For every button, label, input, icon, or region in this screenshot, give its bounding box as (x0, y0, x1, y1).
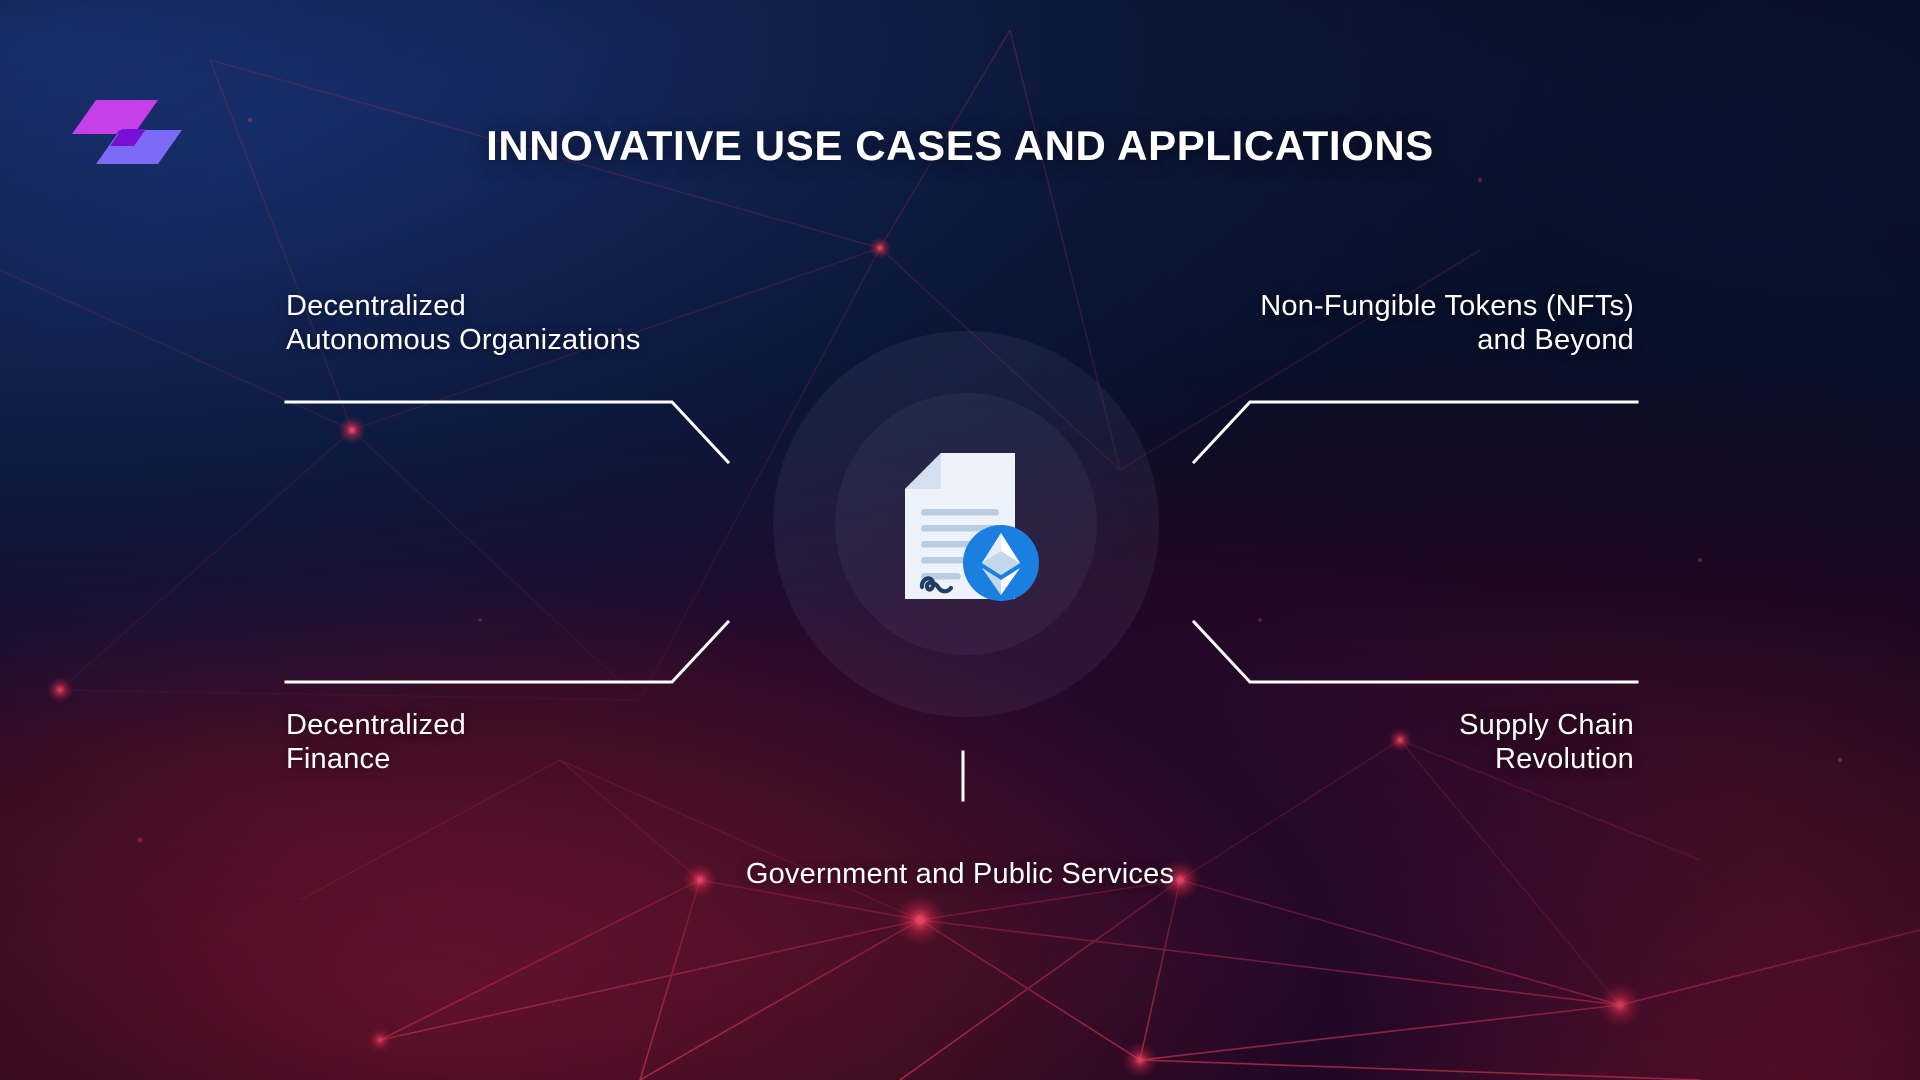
label-supply-chain-revolution: Supply Chain Revolution (1114, 709, 1634, 777)
label-decentralized-autonomous-organizations: Decentralized Autonomous Organizations (286, 290, 806, 358)
connector-bottom-right (1194, 622, 1637, 682)
label-nft-and-beyond: Non-Fungible Tokens (NFTs) and Beyond (1074, 290, 1634, 358)
connector-top-right (1194, 402, 1637, 462)
center-hub (773, 331, 1159, 717)
slide-canvas: INNOVATIVE USE CASES AND APPLICATIONS (0, 0, 1920, 1080)
connector-bottom-left (286, 622, 728, 682)
smart-contract-document-icon (875, 435, 1057, 617)
label-decentralized-finance: Decentralized Finance (286, 709, 806, 777)
connector-top-left (286, 402, 728, 462)
label-government-and-public-services: Government and Public Services (0, 858, 1920, 892)
